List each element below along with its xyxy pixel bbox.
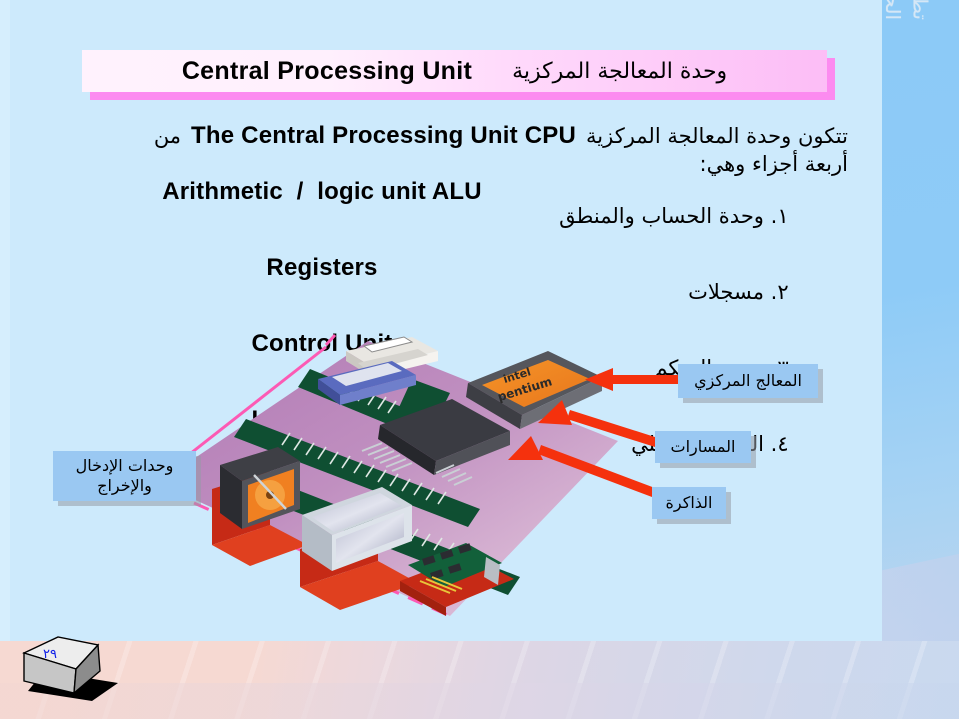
callout-io[interactable]: وحدات الإدخال والإخراج <box>53 451 196 501</box>
left-edge-band <box>0 0 10 641</box>
keycap-icon: ٢٩ <box>22 631 134 703</box>
intro-arabic-lead: تتكون وحدة المعالجة المركزية <box>586 124 848 148</box>
hard-disk <box>212 447 308 566</box>
motherboard-illustration: intel pentium <box>150 333 650 616</box>
item-number: ٢ <box>777 280 788 304</box>
intro-arabic-line2: أربعة أجزاء وهي: <box>700 152 848 176</box>
callout-bus[interactable]: المسارات <box>655 431 751 463</box>
sidebar-line-2: الحاسب الآلي <box>882 0 905 20</box>
intro-arabic-tail: من <box>154 124 181 148</box>
keycap-page-number: ٢٩ <box>43 647 57 662</box>
item-arabic-label: مسجلات <box>688 280 764 304</box>
item-english: Registers <box>62 254 582 282</box>
intro-line-1: من The Central Processing Unit CPU تتكون… <box>58 122 848 150</box>
right-sidebar: تطور ، تقنية ، مستقبل الحاسب الآلي <box>882 0 959 641</box>
intro-english: The Central Processing Unit CPU <box>191 122 576 150</box>
intro-line-2: أربعة أجزاء وهي: <box>58 152 848 176</box>
list-item: Arithmetic / logic unit ALU ١. وحدة الحس… <box>58 178 848 252</box>
item-english: Arithmetic / logic unit ALU <box>62 178 582 206</box>
item-dot: . <box>764 204 777 228</box>
list-item: Registers ٢. مسجلات <box>58 254 848 328</box>
item-number: ٤ <box>777 432 788 456</box>
sidebar-text-group: تطور ، تقنية ، مستقبل الحاسب الآلي <box>883 8 957 628</box>
item-arabic-label: وحدة الحساب والمنطق <box>559 204 764 228</box>
slide-canvas: تطور ، تقنية ، مستقبل الحاسب الآلي ٢٩ Ce… <box>0 0 959 719</box>
sidebar-line-1: تطور ، تقنية ، مستقبل <box>909 0 933 20</box>
item-number: ١ <box>777 204 788 228</box>
item-dot: . <box>764 280 777 304</box>
item-arabic: ٢. مسجلات <box>582 256 848 328</box>
item-arabic: ١. وحدة الحساب والمنطق <box>582 180 848 252</box>
footer-band-overlay <box>0 683 959 719</box>
callout-memory[interactable]: الذاكرة <box>652 487 726 519</box>
item-dot: . <box>764 432 777 456</box>
title-arabic: وحدة المعالجة المركزية <box>512 59 727 84</box>
callout-cpu[interactable]: المعالج المركزي <box>678 364 818 398</box>
slide-title-bar: Central Processing Unit وحدة المعالجة ال… <box>82 50 827 92</box>
title-english: Central Processing Unit <box>182 57 472 86</box>
